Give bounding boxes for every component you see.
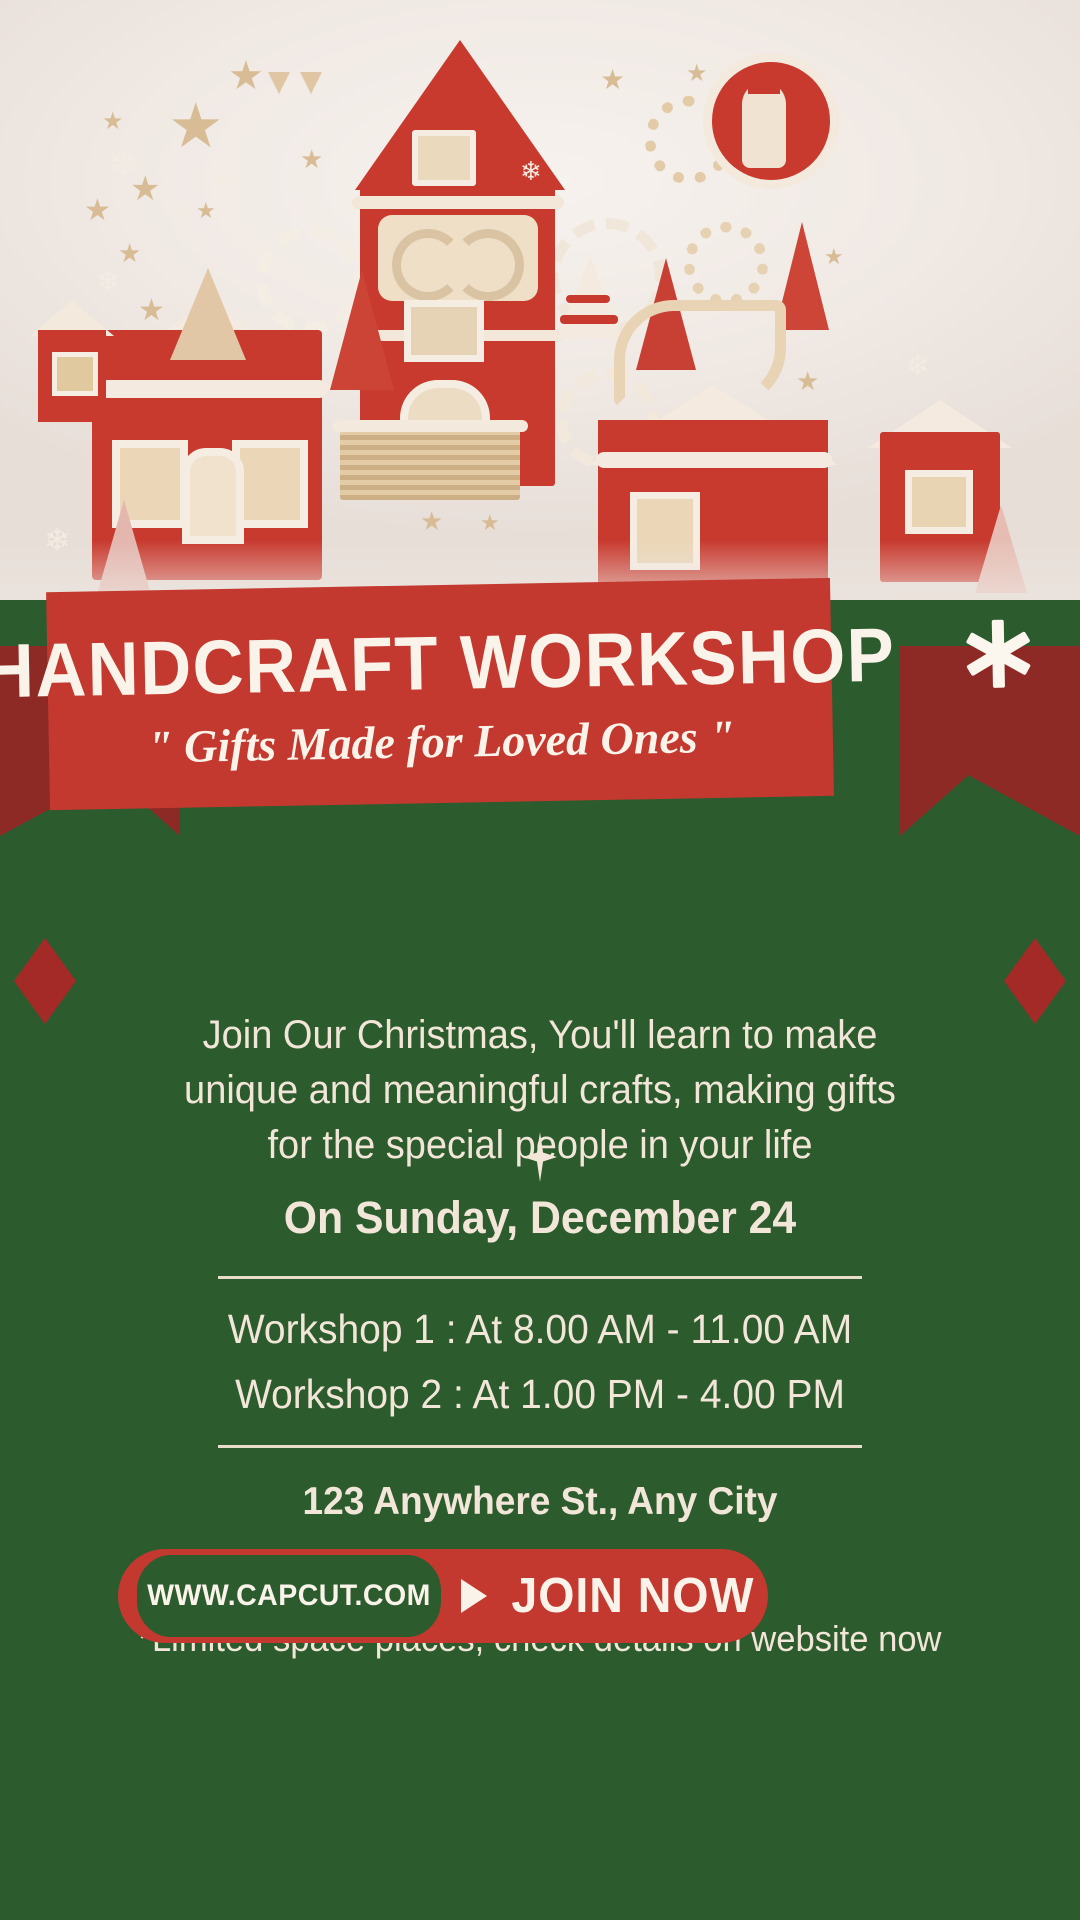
cone-stripe	[560, 315, 618, 324]
snowflake-icon: ❄	[170, 200, 195, 230]
paper-star-icon: ★	[600, 66, 625, 94]
diamond-decor-right	[1004, 938, 1066, 1024]
join-now-button[interactable]: JOIN NOW	[454, 1568, 768, 1624]
house-window	[52, 352, 98, 396]
session-time: At 1.00 PM - 4.00 PM	[473, 1371, 845, 1417]
banner-content: HANDCRAFT WORKSHOP " Gifts Made for Love…	[46, 578, 834, 810]
house-window	[905, 470, 973, 534]
shutter-top-trim	[332, 420, 528, 432]
asterisk-icon	[963, 619, 1032, 688]
poster-root: ★ ★ ★ ★ ★ ★ ★ ★ ★ ★ ★ ★ ★ ★ ★ ❄ ❄ ❄ ❄ ❄ …	[0, 0, 1080, 1920]
event-date: On Sunday, December 24	[27, 1192, 1053, 1244]
paper-star-icon: ★	[168, 96, 224, 158]
snowflake-icon: ❄	[212, 166, 234, 192]
snowflake-icon: ❄	[520, 158, 542, 184]
paper-star-icon: ★	[118, 240, 141, 266]
house-lace-trim	[88, 380, 328, 398]
pennant-icon	[268, 72, 290, 94]
page-title: HANDCRAFT WORKSHOP	[0, 612, 896, 716]
paper-star-icon: ★	[796, 368, 819, 394]
page-subtitle: " Gifts Made for Loved Ones "	[147, 710, 736, 774]
session-label: Workshop 2	[235, 1371, 442, 1417]
divider-rule	[218, 1445, 862, 1448]
paper-star-icon: ★	[102, 110, 124, 134]
wreath-doily-icon	[684, 222, 768, 306]
ornament-figure-icon	[742, 82, 786, 168]
play-triangle-icon	[461, 1579, 487, 1613]
session-row: Workshop 1 : At 8.00 AM - 11.00 AM	[27, 1306, 1053, 1353]
session-separator: :	[446, 1306, 457, 1352]
paper-star-icon: ★	[824, 246, 844, 268]
house-window	[412, 130, 476, 186]
house-swirl-decor	[378, 215, 538, 301]
hero-photo-christmas-village: ★ ★ ★ ★ ★ ★ ★ ★ ★ ★ ★ ★ ★ ★ ★ ❄ ❄ ❄ ❄ ❄ …	[0, 0, 1080, 600]
session-row: Workshop 2 : At 1.00 PM - 4.00 PM	[27, 1371, 1053, 1418]
join-now-label: JOIN NOW	[512, 1568, 755, 1624]
details-section: Join Our Christmas, You'll learn to make…	[0, 840, 1080, 1920]
shutter-window-panel	[340, 430, 520, 500]
website-pill[interactable]: WWW.CAPCUT.COM	[132, 1550, 446, 1642]
snowflake-icon: ❄	[108, 146, 138, 182]
paper-star-icon: ★	[686, 62, 708, 86]
bottle-brush-tree-icon	[330, 270, 394, 390]
paper-star-icon: ★	[420, 508, 443, 534]
session-time: At 8.00 AM - 11.00 AM	[465, 1306, 852, 1352]
paper-star-icon: ★	[480, 512, 500, 534]
house-trim	[352, 196, 564, 209]
house-door	[182, 448, 244, 544]
paper-star-icon: ★	[84, 196, 111, 226]
paper-cone-tree-icon	[170, 268, 246, 360]
session-separator: :	[453, 1371, 464, 1417]
paper-star-icon: ★	[196, 200, 216, 222]
cone-stripe	[566, 295, 610, 303]
snowflake-icon: ❄	[96, 268, 119, 296]
paper-star-icon: ★	[228, 56, 264, 96]
pennant-icon	[300, 72, 322, 94]
event-address: 123 Anywhere St., Any City	[27, 1480, 1053, 1524]
paper-sleigh-icon	[614, 300, 786, 408]
banner-title-row: HANDCRAFT WORKSHOP	[0, 609, 1033, 718]
snowflake-icon: ❄	[906, 352, 929, 380]
house-window	[404, 300, 484, 362]
diamond-decor-left	[14, 938, 76, 1024]
divider-rule	[218, 1276, 862, 1279]
cta-bar[interactable]: WWW.CAPCUT.COM JOIN NOW	[118, 1549, 768, 1643]
house-scallop-trim	[596, 452, 832, 468]
session-label: Workshop 1	[228, 1306, 435, 1352]
paper-star-icon: ★	[138, 296, 165, 326]
paper-star-icon: ★	[300, 146, 323, 172]
